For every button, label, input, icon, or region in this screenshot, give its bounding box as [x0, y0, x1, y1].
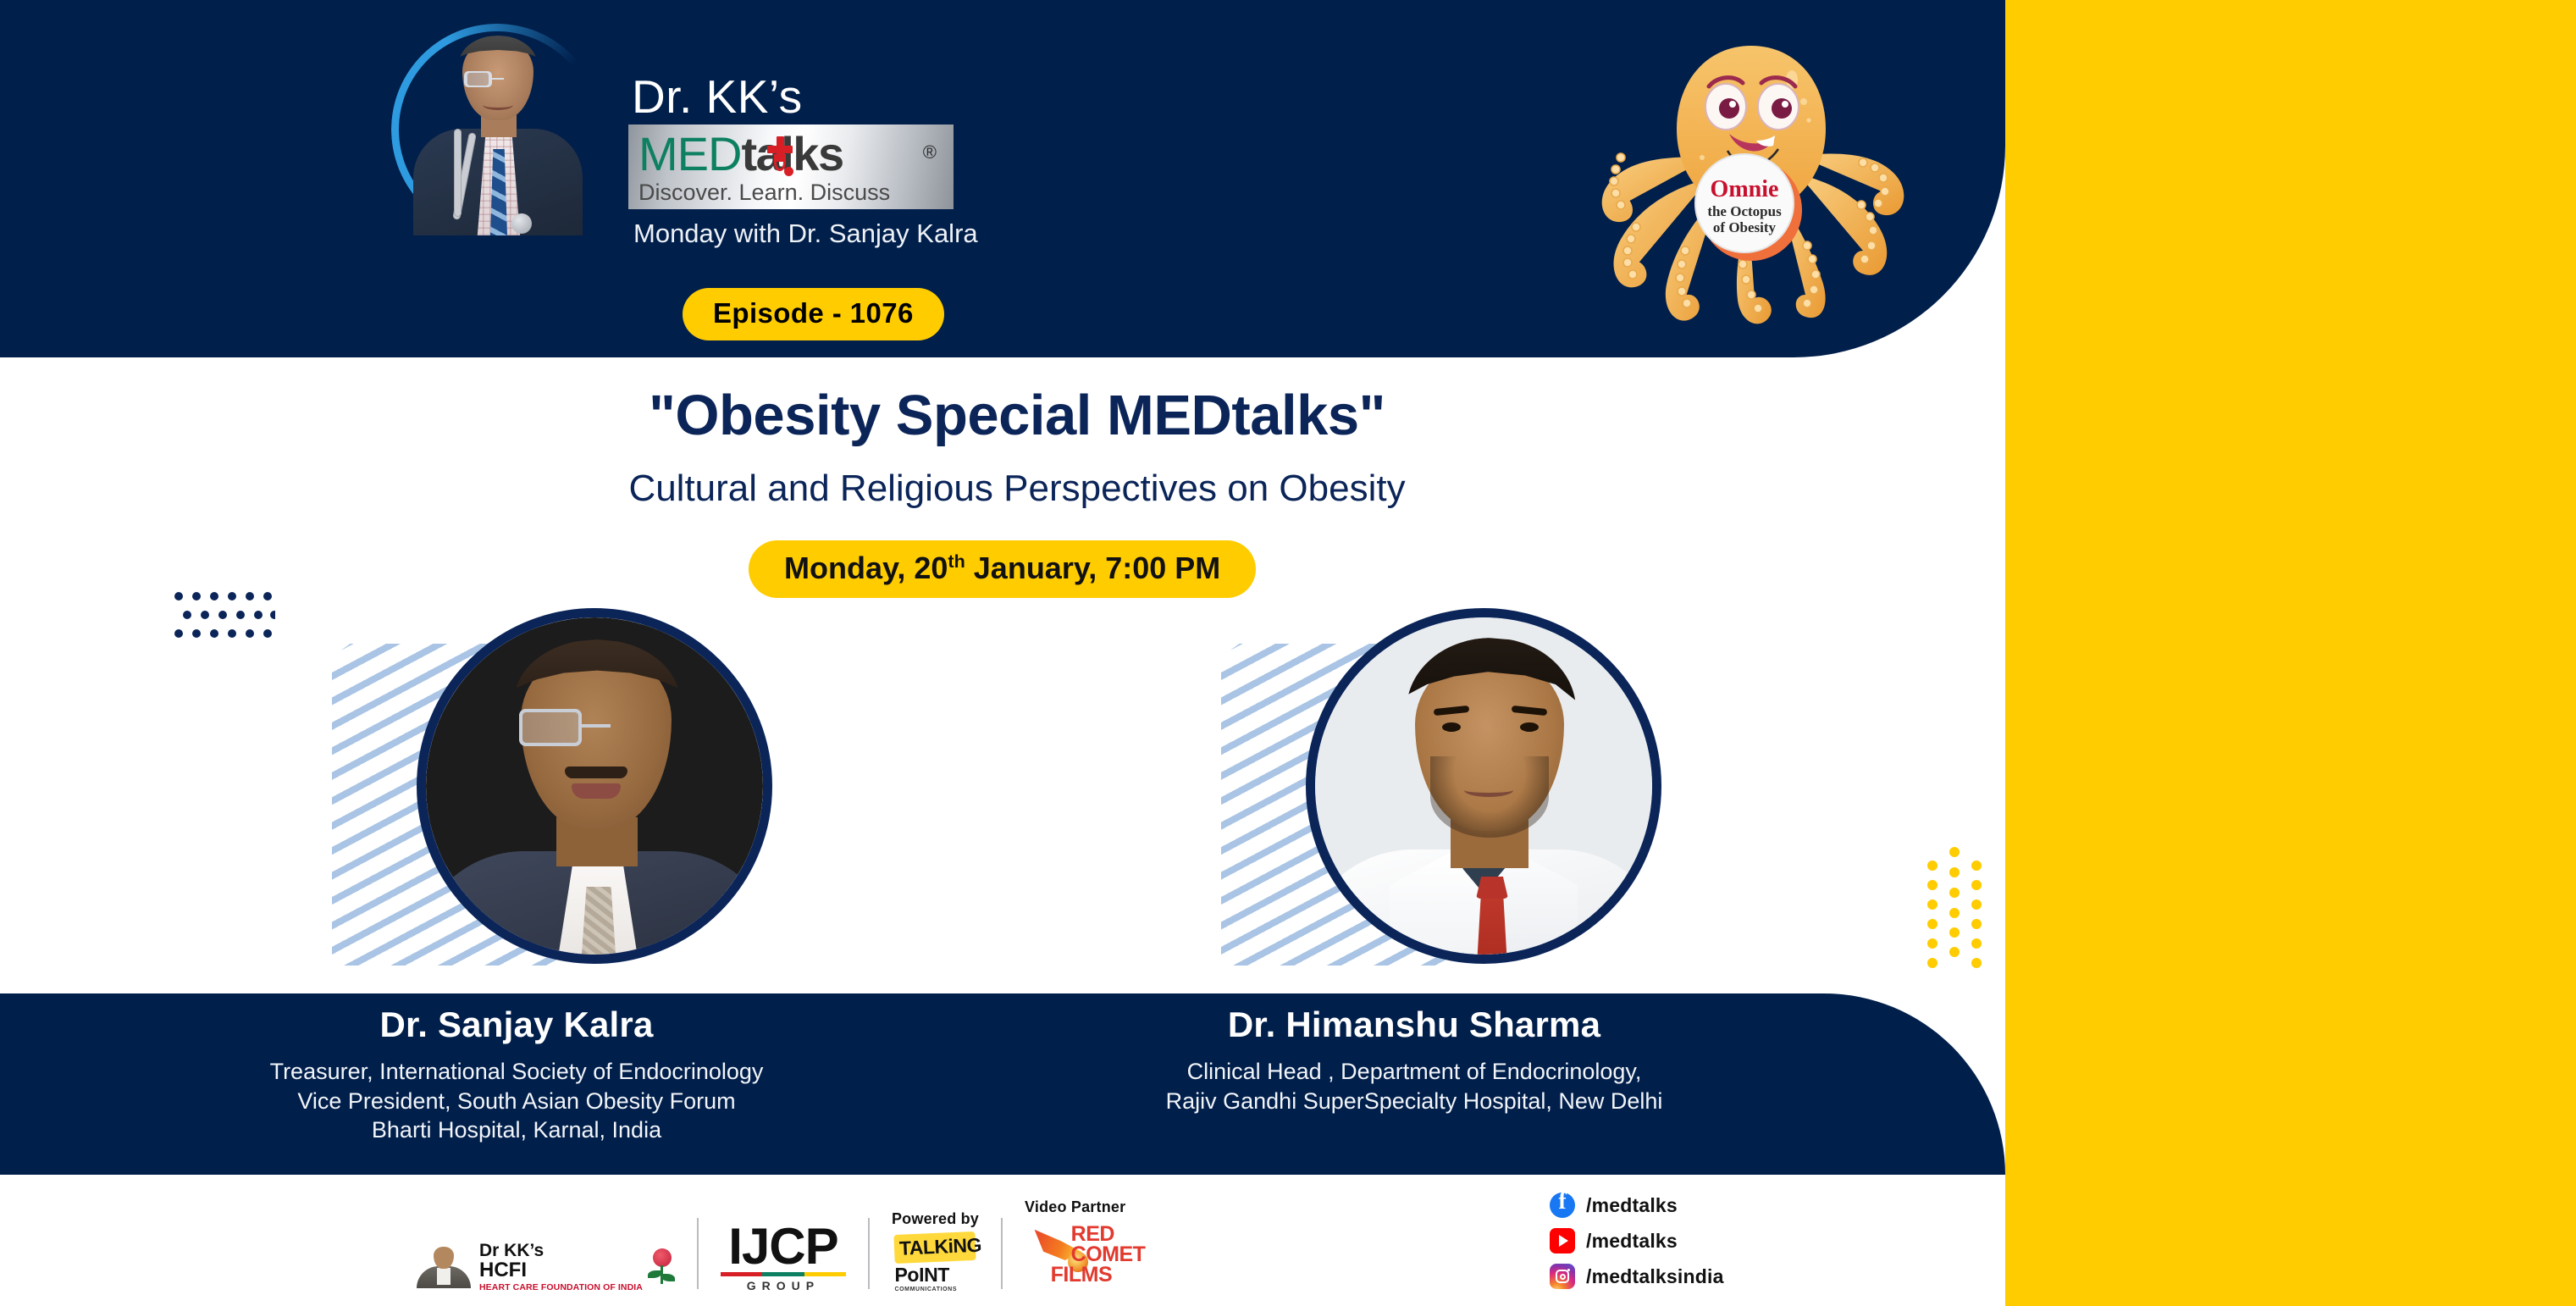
decorative-yellow-dot-grid — [1922, 847, 1982, 970]
talking-point-line1: TALKiNG — [899, 1234, 971, 1260]
facebook-icon[interactable] — [1550, 1193, 1575, 1218]
speaker-2-avatar — [1306, 608, 1661, 964]
mouth-shape — [572, 783, 621, 799]
ijcp-wordmark: IJCP — [728, 1223, 837, 1270]
dr-kk-photo — [410, 30, 584, 235]
rcf-line3: FILMS — [1051, 1265, 1146, 1285]
mascot-name-text: Omnie — [1711, 176, 1779, 202]
medtalks-logo-plate: MEDtalks ® Discover. Learn. Discuss — [628, 125, 954, 209]
rcf-line2: COMET — [1071, 1245, 1146, 1264]
smile-shape — [483, 100, 513, 110]
registered-trademark-icon: ® — [923, 128, 937, 177]
moustache-shape — [565, 766, 627, 778]
header-subtitle: Monday with Dr. Sanjay Kalra — [628, 219, 1103, 249]
ijcp-group-text: GROUP — [747, 1279, 820, 1292]
partner-talking-point: Powered by TALKiNG PoINT COMMUNICATIONS — [892, 1210, 979, 1292]
ijcp-color-bars — [721, 1272, 846, 1276]
logo-med-text: MED — [638, 127, 741, 180]
brand-owner-text: Dr. KK’s — [628, 73, 1103, 120]
omnie-octopus-mascot-icon: Omnie the Octopus of Obesity — [1582, 30, 1921, 344]
youtube-icon[interactable] — [1550, 1228, 1575, 1253]
glasses-icon — [464, 71, 532, 88]
beard-shading — [1430, 756, 1549, 838]
medtalks-wordmark: MEDtalks ® — [638, 130, 954, 179]
dr-kk-portrait — [391, 24, 603, 235]
eye-right — [1520, 722, 1539, 732]
date-suffix: January, 7:00 PM — [965, 551, 1220, 585]
tie-knot-shape — [1476, 877, 1508, 899]
social-row-facebook[interactable]: /medtalks — [1550, 1187, 1724, 1223]
rose-icon — [648, 1248, 675, 1286]
stethoscope-icon — [454, 129, 544, 230]
partner-divider — [697, 1218, 699, 1289]
date-time-badge: Monday, 20th January, 7:00 PM — [749, 540, 1256, 598]
page-subtitle: Cultural and Religious Perspectives on O… — [0, 468, 2034, 510]
talking-point-line3: COMMUNICATIONS — [894, 1287, 976, 1292]
instagram-icon[interactable] — [1550, 1264, 1575, 1289]
youtube-handle[interactable]: /medtalks — [1586, 1230, 1678, 1253]
speaker-1-credentials: Treasurer, International Society of Endo… — [169, 1057, 864, 1145]
partner-divider — [868, 1218, 870, 1289]
right-yellow-band — [2005, 0, 2576, 1306]
social-row-instagram[interactable]: /medtalksindia — [1550, 1259, 1724, 1294]
date-ordinal: th — [948, 551, 965, 572]
glasses-icon — [519, 709, 673, 748]
speaker-2-name: Dr. Himanshu Sharma — [1067, 1004, 1761, 1045]
partner-red-comet-films: Video Partner RED COMET FILMS — [1025, 1198, 1125, 1292]
facebook-handle[interactable]: /medtalks — [1586, 1194, 1678, 1217]
hcfi-line1: Dr KK’s — [479, 1242, 643, 1259]
video-partner-label: Video Partner — [1025, 1198, 1125, 1216]
episode-badge: Episode - 1076 — [683, 288, 944, 340]
svg-text:the Octopus: the Octopus — [1707, 203, 1782, 219]
speaker-2-credentials: Clinical Head , Department of Endocrinol… — [1067, 1057, 1761, 1115]
poster-canvas: Dr. KK’s MEDtalks ® Discover. Learn. Dis… — [0, 0, 2576, 1306]
hcfi-line2: HCFI — [479, 1260, 643, 1281]
eye-left — [1442, 722, 1461, 732]
medical-cross-stethoscope-icon — [767, 136, 793, 162]
powered-by-label: Powered by — [892, 1210, 979, 1228]
social-row-youtube[interactable]: /medtalks — [1550, 1223, 1724, 1259]
decorative-navy-dot-grid — [174, 589, 275, 649]
partner-divider — [1001, 1218, 1003, 1289]
svg-text:of Obesity: of Obesity — [1713, 219, 1777, 235]
partner-hcfi: Dr KK’s HCFI HEART CARE FOUNDATION OF IN… — [412, 1242, 675, 1292]
talking-point-line2: PoINT — [894, 1264, 976, 1287]
partner-ijcp: IJCP GROUP — [721, 1223, 846, 1292]
social-handles-list: /medtalks /medtalks /medtalksindia — [1550, 1187, 1724, 1294]
mouth-shape — [1464, 783, 1513, 797]
brand-lockup: Dr. KK’s MEDtalks ® Discover. Learn. Dis… — [628, 73, 1103, 249]
speaker-1-name: Dr. Sanjay Kalra — [169, 1004, 864, 1045]
partner-logo-strip: Dr KK’s HCFI HEART CARE FOUNDATION OF IN… — [412, 1196, 1125, 1292]
hcfi-line3: HEART CARE FOUNDATION OF INDIA — [479, 1282, 643, 1292]
speaker-1-avatar — [417, 608, 772, 964]
rcf-line1: RED — [1071, 1225, 1146, 1244]
instagram-handle[interactable]: /medtalksindia — [1586, 1265, 1724, 1288]
logo-tagline: Discover. Learn. Discuss — [638, 180, 954, 206]
page-title: "Obesity Special MEDtalks" — [0, 383, 2034, 448]
date-prefix: Monday, 20 — [784, 551, 948, 585]
hcfi-portrait-icon — [412, 1244, 474, 1290]
